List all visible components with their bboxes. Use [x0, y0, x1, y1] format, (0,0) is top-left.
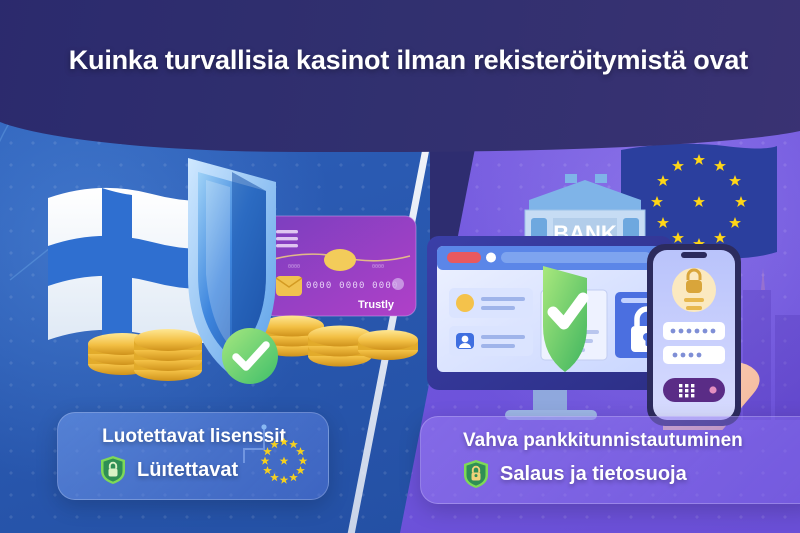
- right-illustration: BANK: [425, 140, 800, 430]
- left-feature-subtitle: Lüıtettavat: [137, 459, 238, 482]
- right-feature-card[interactable]: Vahva pankkitunnistautuminen Salaus ja t…: [420, 416, 800, 504]
- trustly-card: 00000000 0000 0000 0000 Trustly: [264, 216, 416, 316]
- smartphone-auth: [647, 244, 741, 426]
- promo-banner: 00000000 0000 0000 0000 Trustly: [0, 0, 800, 533]
- browser-pill: [447, 252, 481, 263]
- right-feature-subtitle-row: Salaus ja tietosuoja: [449, 459, 793, 489]
- svg-text:0000 0000 0000: 0000 0000 0000: [306, 281, 399, 291]
- page-title: Kuinka turvallisia kasinot ilman rekiste…: [48, 42, 748, 79]
- svg-text:0000: 0000: [288, 264, 300, 270]
- right-feature-title: Vahva pankkitunnistautuminen: [449, 430, 793, 452]
- left-illustration: 00000000 0000 0000 0000 Trustly: [40, 150, 430, 410]
- shield-lock-icon: [100, 455, 126, 485]
- svg-text:0000: 0000: [372, 264, 384, 270]
- desktop-monitor: [427, 236, 677, 420]
- coin-stack-right: [260, 316, 418, 367]
- shield-lock-icon: [463, 459, 489, 489]
- svg-text:Trustly: Trustly: [358, 299, 395, 311]
- phone-lock-icon: [672, 268, 716, 312]
- coin-stack-left: [88, 329, 202, 381]
- left-feature-card[interactable]: Luotettavat lisenssit Lüıtettavat: [57, 412, 329, 500]
- right-feature-subtitle: Salaus ja tietosuoja: [500, 463, 687, 486]
- eu-stars-emblem: [242, 419, 314, 491]
- phone-keypad-button: [663, 378, 725, 402]
- green-check-badge: [222, 328, 278, 384]
